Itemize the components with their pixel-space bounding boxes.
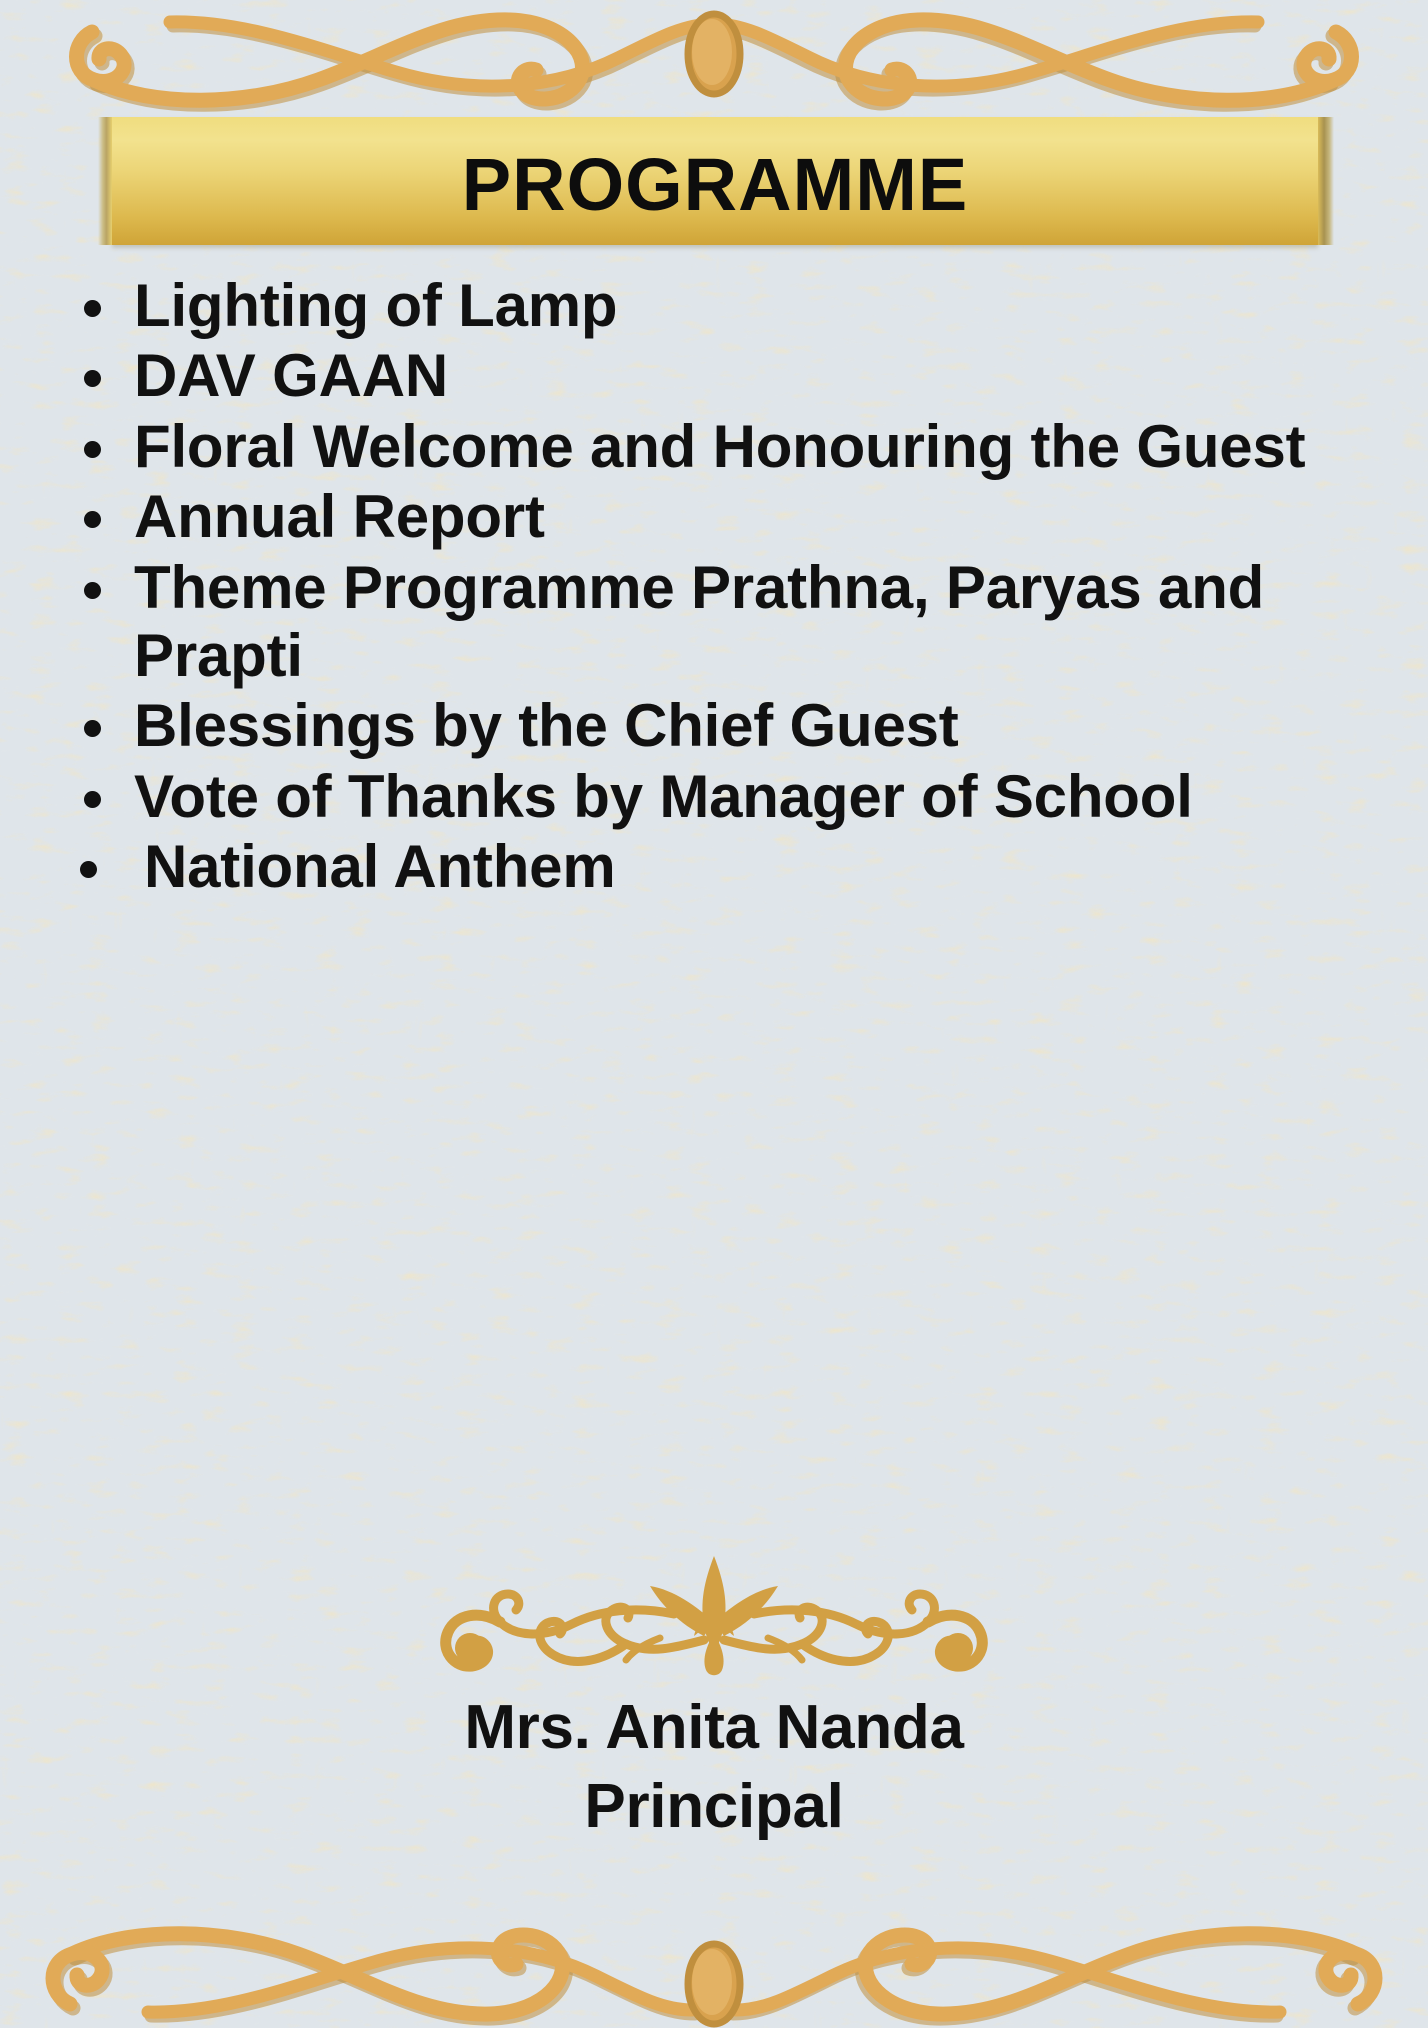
list-item: Floral Welcome and Honouring the Guest — [66, 413, 1356, 481]
programme-title-banner: PROGRAMME — [112, 117, 1318, 245]
bullet-icon — [84, 370, 101, 387]
page-title: PROGRAMME — [462, 148, 968, 222]
bullet-icon — [84, 300, 101, 317]
list-item-label: Annual Report — [134, 483, 545, 550]
bullet-icon — [84, 791, 101, 808]
bottom-flourish-ornament — [30, 1908, 1398, 2028]
bullet-icon — [84, 441, 101, 458]
list-item: Annual Report — [66, 483, 1356, 551]
list-item-label: DAV GAAN — [134, 342, 448, 409]
list-item-label: Theme Programme Prathna, Paryas and Prap… — [134, 554, 1264, 689]
bullet-icon — [80, 861, 97, 878]
list-item-label: Vote of Thanks by Manager of School — [134, 763, 1193, 830]
programme-list: Lighting of Lamp DAV GAAN Floral Welcome… — [66, 272, 1356, 904]
principal-designation: Principal — [0, 1767, 1428, 1846]
list-item: Vote of Thanks by Manager of School — [66, 763, 1356, 831]
list-item: Lighting of Lamp — [66, 272, 1356, 340]
bullet-icon — [84, 582, 101, 599]
top-flourish-ornament — [58, 0, 1370, 116]
bullet-icon — [84, 511, 101, 528]
middle-divider-ornament — [374, 1548, 1054, 1688]
list-item-label: Lighting of Lamp — [134, 272, 617, 339]
list-item-label: Floral Welcome and Honouring the Guest — [134, 413, 1305, 480]
list-item: Theme Programme Prathna, Paryas and Prap… — [66, 554, 1356, 691]
principal-name: Mrs. Anita Nanda — [0, 1688, 1428, 1767]
list-item: National Anthem — [66, 833, 1356, 901]
programme-poster: PROGRAMME Lighting of Lamp DAV GAAN Flor… — [0, 0, 1428, 2028]
bullet-icon — [84, 720, 101, 737]
list-item-label: National Anthem — [144, 833, 615, 900]
list-item: DAV GAAN — [66, 342, 1356, 410]
list-item: Blessings by the Chief Guest — [66, 692, 1356, 760]
signature-block: Mrs. Anita Nanda Principal — [0, 1688, 1428, 1847]
list-item-label: Blessings by the Chief Guest — [134, 692, 959, 759]
